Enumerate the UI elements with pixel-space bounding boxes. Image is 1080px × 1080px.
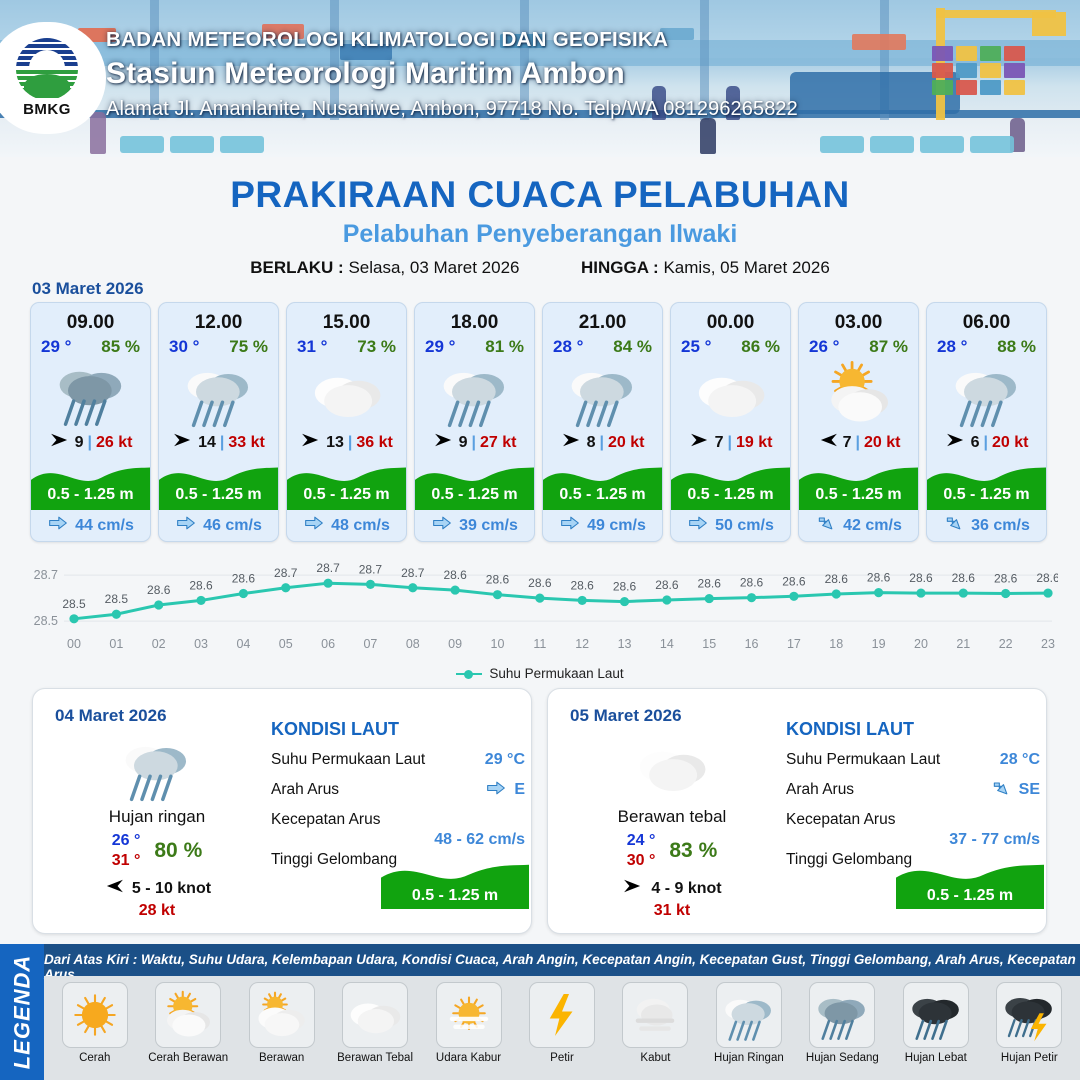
current-direction-arrow-icon xyxy=(559,513,581,538)
sea-conditions-heading: KONDISI LAUT xyxy=(786,719,1040,740)
card-wave-band: 0.5 - 1.25 m xyxy=(543,458,662,510)
hourly-forecast-card[interactable]: 09.00 29 ° 85 % 9 | 26 kt 0.5 - 1.25 m 4… xyxy=(30,302,151,542)
gust-speed: 27 kt xyxy=(480,434,516,452)
svg-text:00: 00 xyxy=(67,637,81,651)
card-temperature: 31 ° xyxy=(297,337,327,357)
wave-height: 0.5 - 1.25 m xyxy=(415,486,534,504)
current-speed-value-row: 37 - 77 cm/s xyxy=(786,831,1040,849)
page-title: PRAKIRAAN CUACA PELABUHAN xyxy=(0,174,1080,216)
card-current-row: 44 cm/s xyxy=(31,510,150,541)
card-temp-humidity: 30 ° 75 % xyxy=(159,334,278,357)
sst-row: Suhu Permukaan Laut 29 °C xyxy=(271,745,525,775)
svg-text:28.6: 28.6 xyxy=(994,572,1018,586)
wind-speed: 9 xyxy=(75,434,84,452)
wind-direction-arrow-icon xyxy=(689,432,711,453)
weather-berawan-tebal-icon xyxy=(287,357,406,429)
legend-item-label: Kabut xyxy=(640,1052,670,1064)
until-value: Kamis, 05 Maret 2026 xyxy=(663,258,829,277)
valid-value: Selasa, 03 Maret 2026 xyxy=(348,258,519,277)
current-direction-arrow-icon xyxy=(303,513,325,538)
svg-text:28.6: 28.6 xyxy=(443,568,467,582)
svg-text:04: 04 xyxy=(236,637,250,651)
wind-direction-arrow-icon xyxy=(817,432,839,453)
svg-text:28.6: 28.6 xyxy=(189,578,213,592)
agency-name: BADAN METEOROLOGI KLIMATOLOGI DAN GEOFIS… xyxy=(106,28,798,52)
panel-wind-row: 4 - 9 knot xyxy=(558,878,786,899)
current-direction-label: Arah Arus xyxy=(271,781,339,799)
separator: | xyxy=(599,434,603,452)
svg-text:28.6: 28.6 xyxy=(909,571,933,585)
svg-text:03: 03 xyxy=(194,637,208,651)
panel-temp-range: 24 ° 30 ° xyxy=(627,831,656,871)
ship-icon xyxy=(852,34,906,50)
card-wave-band: 0.5 - 1.25 m xyxy=(159,458,278,510)
person-figure xyxy=(90,112,106,154)
wind-direction-arrow-icon xyxy=(561,432,583,453)
weather-berawan-tebal-icon xyxy=(558,731,786,803)
wind-speed: 7 xyxy=(715,434,724,452)
sst-value: 28 °C xyxy=(1000,751,1040,769)
card-current-row: 48 cm/s xyxy=(287,510,406,541)
svg-text:14: 14 xyxy=(660,637,674,651)
current-direction-arrow-icon xyxy=(943,513,965,538)
svg-text:10: 10 xyxy=(491,637,505,651)
card-hour: 21.00 xyxy=(543,303,662,334)
panel-temp-max: 31 ° xyxy=(112,851,141,871)
svg-text:19: 19 xyxy=(872,637,886,651)
panel-sea-conditions: KONDISI LAUT Suhu Permukaan Laut 28 °C A… xyxy=(786,719,1040,911)
weather-berawan-tebal-icon xyxy=(342,982,408,1048)
chart-legend: Suhu Permukaan Laut xyxy=(22,666,1058,681)
svg-text:28.6: 28.6 xyxy=(613,580,637,594)
card-temp-humidity: 28 ° 88 % xyxy=(927,334,1046,357)
legend-item-label: Petir xyxy=(550,1052,574,1064)
current-speed: 36 cm/s xyxy=(971,517,1030,535)
legend-item: Berawan Tebal xyxy=(328,982,421,1064)
current-speed: 39 cm/s xyxy=(459,517,518,535)
container-icon xyxy=(956,63,977,78)
current-direction-arrow-icon xyxy=(990,778,1012,803)
weather-hujan-ringan-icon xyxy=(543,357,662,429)
card-temp-humidity: 25 ° 86 % xyxy=(671,334,790,357)
svg-text:28.6: 28.6 xyxy=(570,578,594,592)
wind-speed: 13 xyxy=(326,434,344,452)
station-address: Alamat Jl. Amanlanite, Nusaniwe, Ambon, … xyxy=(106,98,798,121)
bmkg-logo-mark xyxy=(16,38,78,100)
weather-cerah-berawan-icon xyxy=(155,982,221,1048)
legend-item-label: Cerah xyxy=(79,1052,110,1064)
hourly-forecast-card[interactable]: 00.00 25 ° 86 % 7 | 19 kt 0.5 - 1.25 m 5… xyxy=(670,302,791,542)
separator: | xyxy=(983,434,987,452)
svg-text:12: 12 xyxy=(575,637,589,651)
card-temperature: 28 ° xyxy=(553,337,583,357)
wind-direction-arrow-icon xyxy=(945,432,967,453)
crane-hoist-icon xyxy=(1032,12,1066,36)
wave-height: 0.5 - 1.25 m xyxy=(671,486,790,504)
svg-text:22: 22 xyxy=(999,637,1013,651)
weather-hujan-ringan-icon xyxy=(159,357,278,429)
wave-height: 0.5 - 1.25 m xyxy=(927,486,1046,504)
current-speed-label: Kecepatan Arus xyxy=(271,811,380,829)
current-speed: 44 cm/s xyxy=(75,517,134,535)
current-direction-label: Arah Arus xyxy=(786,781,854,799)
svg-text:28.6: 28.6 xyxy=(825,572,849,586)
card-temp-humidity: 31 ° 73 % xyxy=(287,334,406,357)
card-temp-humidity: 26 ° 87 % xyxy=(799,334,918,357)
container-icon xyxy=(980,63,1001,78)
card-humidity: 75 % xyxy=(229,337,268,357)
card-hour: 12.00 xyxy=(159,303,278,334)
seat-row xyxy=(920,136,964,153)
card-hour: 15.00 xyxy=(287,303,406,334)
legend-item-label: Hujan Petir xyxy=(1001,1052,1058,1064)
separator: | xyxy=(87,434,91,452)
container-icon xyxy=(932,63,953,78)
legend-side-label: LEGENDA xyxy=(9,955,35,1070)
wind-direction-arrow-icon xyxy=(433,432,455,453)
container-icon xyxy=(956,80,977,95)
sea-conditions-heading: KONDISI LAUT xyxy=(271,719,525,740)
svg-text:16: 16 xyxy=(745,637,759,651)
current-speed: 50 cm/s xyxy=(715,517,774,535)
legend-marker-icon xyxy=(456,669,482,679)
legend-item: Hujan Ringan xyxy=(702,982,795,1064)
card-humidity: 85 % xyxy=(101,337,140,357)
hourly-forecast-strip: 09.00 29 ° 85 % 9 | 26 kt 0.5 - 1.25 m 4… xyxy=(30,302,1050,542)
card-hour: 00.00 xyxy=(671,303,790,334)
current-direction-value: E xyxy=(485,778,525,803)
card-current-row: 50 cm/s xyxy=(671,510,790,541)
card-wind-row: 6 | 20 kt xyxy=(927,429,1046,456)
weather-hujan-lebat-icon xyxy=(903,982,969,1048)
weather-cerah-berawan-icon xyxy=(799,357,918,429)
panel-wind-row: 5 - 10 knot xyxy=(43,878,271,899)
gust-speed: 19 kt xyxy=(736,434,772,452)
until-label: HINGGA : xyxy=(581,258,659,277)
weather-hujan-ringan-icon xyxy=(415,357,534,429)
card-wind-row: 9 | 26 kt xyxy=(31,429,150,456)
card-temperature: 26 ° xyxy=(809,337,839,357)
current-speed-label: Kecepatan Arus xyxy=(786,811,895,829)
card-humidity: 81 % xyxy=(485,337,524,357)
panel-gust: 31 kt xyxy=(558,902,786,920)
wind-direction-arrow-icon xyxy=(622,878,644,899)
separator: | xyxy=(220,434,224,452)
legend-item-label: Hujan Sedang xyxy=(806,1052,879,1064)
daily-forecast-panel[interactable]: 05 Maret 2026 Berawan tebal 24 ° 30 ° 83… xyxy=(547,688,1047,934)
svg-text:28.7: 28.7 xyxy=(401,566,425,580)
wind-speed: 9 xyxy=(459,434,468,452)
current-speed: 42 cm/s xyxy=(843,517,902,535)
gust-speed: 33 kt xyxy=(228,434,264,452)
weather-berawan-tebal-icon xyxy=(671,357,790,429)
card-current-row: 39 cm/s xyxy=(415,510,534,541)
gust-speed: 20 kt xyxy=(864,434,900,452)
svg-text:17: 17 xyxy=(787,637,801,651)
page-banner: BMKG BADAN METEOROLOGI KLIMATOLOGI DAN G… xyxy=(0,0,1080,157)
panel-wind-speed: 4 - 9 knot xyxy=(651,880,721,898)
container-icon xyxy=(932,46,953,61)
container-icon xyxy=(956,46,977,61)
sst-value: 29 °C xyxy=(485,751,525,769)
card-humidity: 73 % xyxy=(357,337,396,357)
panel-temp-range: 26 ° 31 ° xyxy=(112,831,141,871)
legend-side-bar: LEGENDA xyxy=(0,944,44,1080)
wave-height: 0.5 - 1.25 m xyxy=(287,486,406,504)
panel-condition: Hujan ringan xyxy=(43,807,271,827)
svg-text:09: 09 xyxy=(448,637,462,651)
container-icon xyxy=(1004,63,1025,78)
current-direction-row: Arah Arus SE xyxy=(786,775,1040,805)
weather-hujan-sedang-icon xyxy=(31,357,150,429)
weather-petir-icon xyxy=(529,982,595,1048)
station-name: Stasiun Meteorologi Maritim Ambon xyxy=(106,57,798,91)
svg-text:11: 11 xyxy=(533,637,546,651)
container-icon xyxy=(980,80,1001,95)
card-wind-row: 7 | 20 kt xyxy=(799,429,918,456)
hourly-forecast-card[interactable]: 03.00 26 ° 87 % 7 | 20 kt 0.5 - 1.25 m 4… xyxy=(798,302,919,542)
legend-item-label: Hujan Lebat xyxy=(905,1052,967,1064)
legend-series-label: Suhu Permukaan Laut xyxy=(489,666,623,681)
current-speed-value-row: 48 - 62 cm/s xyxy=(271,831,525,849)
panel-temp-min: 26 ° xyxy=(112,831,141,851)
daily-forecast-panels: 04 Maret 2026 Hujan ringan 26 ° 31 ° 80 … xyxy=(32,688,1048,934)
panel-humidity: 80 % xyxy=(154,839,202,863)
weather-hujan-petir-icon xyxy=(996,982,1062,1048)
panel-weather-summary: Berawan tebal 24 ° 30 ° 83 % 4 - 9 knot … xyxy=(558,731,786,920)
legend-item: Hujan Sedang xyxy=(796,982,889,1064)
card-temp-humidity: 28 ° 84 % xyxy=(543,334,662,357)
card-current-row: 46 cm/s xyxy=(159,510,278,541)
svg-text:07: 07 xyxy=(363,637,377,651)
hourly-forecast-card[interactable]: 06.00 28 ° 88 % 6 | 20 kt 0.5 - 1.25 m 3… xyxy=(926,302,1047,542)
separator: | xyxy=(855,434,859,452)
sst-label: Suhu Permukaan Laut xyxy=(786,751,940,769)
svg-text:28.6: 28.6 xyxy=(1036,571,1058,585)
separator: | xyxy=(471,434,475,452)
card-hour: 18.00 xyxy=(415,303,534,334)
card-wave-band: 0.5 - 1.25 m xyxy=(671,458,790,510)
svg-text:06: 06 xyxy=(321,637,335,651)
svg-text:20: 20 xyxy=(914,637,928,651)
weather-berawan-icon xyxy=(249,982,315,1048)
separator: | xyxy=(348,434,352,452)
card-humidity: 87 % xyxy=(869,337,908,357)
current-direction-arrow-icon xyxy=(47,513,69,538)
legend-section: LEGENDA Dari Atas Kiri : Waktu, Suhu Uda… xyxy=(0,944,1080,1080)
wave-label: Tinggi Gelombang xyxy=(786,851,912,869)
svg-text:28.6: 28.6 xyxy=(867,571,891,585)
current-speed-value: 37 - 77 cm/s xyxy=(949,831,1040,849)
svg-text:28.6: 28.6 xyxy=(528,576,552,590)
weather-hujan-sedang-icon xyxy=(809,982,875,1048)
svg-text:28.6: 28.6 xyxy=(782,574,806,588)
hourly-forecast-card[interactable]: 12.00 30 ° 75 % 14 | 33 kt 0.5 - 1.25 m … xyxy=(158,302,279,542)
wave-height: 0.5 - 1.25 m xyxy=(543,486,662,504)
sst-row: Suhu Permukaan Laut 28 °C xyxy=(786,745,1040,775)
card-wind-row: 14 | 33 kt xyxy=(159,429,278,456)
panel-condition: Berawan tebal xyxy=(558,807,786,827)
current-direction-row: Arah Arus E xyxy=(271,775,525,805)
svg-text:28.5: 28.5 xyxy=(62,597,86,611)
wave-row: Tinggi Gelombang 0.5 - 1.25 m xyxy=(271,849,525,911)
weather-udara-kabur-icon xyxy=(436,982,502,1048)
weather-hujan-ringan-icon xyxy=(716,982,782,1048)
seat-row xyxy=(970,136,1014,153)
panel-date: 04 Maret 2026 xyxy=(55,706,167,726)
svg-text:01: 01 xyxy=(109,637,123,651)
current-direction-value: SE xyxy=(990,778,1040,803)
legend-item: Petir xyxy=(515,982,608,1064)
legend-item-label: Berawan Tebal xyxy=(337,1052,413,1064)
svg-text:28.7: 28.7 xyxy=(359,562,383,576)
hourly-forecast-card[interactable]: 15.00 31 ° 73 % 13 | 36 kt 0.5 - 1.25 m … xyxy=(286,302,407,542)
card-hour: 09.00 xyxy=(31,303,150,334)
daily-forecast-panel[interactable]: 04 Maret 2026 Hujan ringan 26 ° 31 ° 80 … xyxy=(32,688,532,934)
weather-hujan-ringan-icon xyxy=(43,731,271,803)
svg-text:28.7: 28.7 xyxy=(274,566,298,580)
svg-text:02: 02 xyxy=(152,637,166,651)
wind-speed: 8 xyxy=(587,434,596,452)
valid-label: BERLAKU : xyxy=(250,258,344,277)
legend-item: Berawan xyxy=(235,982,328,1064)
panel-sea-conditions: KONDISI LAUT Suhu Permukaan Laut 29 °C A… xyxy=(271,719,525,911)
card-temperature: 25 ° xyxy=(681,337,711,357)
legend-item: Cerah Berawan xyxy=(141,982,234,1064)
panel-wind-speed: 5 - 10 knot xyxy=(132,880,211,898)
current-direction-arrow-icon xyxy=(815,513,837,538)
wind-direction-arrow-icon xyxy=(300,432,322,453)
svg-text:28.6: 28.6 xyxy=(147,583,171,597)
legend-item-label: Cerah Berawan xyxy=(148,1052,228,1064)
container-icon xyxy=(1004,80,1025,95)
svg-text:28.6: 28.6 xyxy=(952,571,976,585)
svg-text:21: 21 xyxy=(956,637,970,651)
card-wave-band: 0.5 - 1.25 m xyxy=(799,458,918,510)
current-direction-arrow-icon xyxy=(687,513,709,538)
card-current-row: 49 cm/s xyxy=(543,510,662,541)
wave-value: 0.5 - 1.25 m xyxy=(896,887,1044,905)
card-humidity: 88 % xyxy=(997,337,1036,357)
panel-weather-summary: Hujan ringan 26 ° 31 ° 80 % 5 - 10 knot … xyxy=(43,731,271,920)
svg-text:28.6: 28.6 xyxy=(740,576,764,590)
svg-text:08: 08 xyxy=(406,637,420,651)
panel-temp-min: 24 ° xyxy=(627,831,656,851)
current-direction-arrow-icon xyxy=(431,513,453,538)
wave-height: 0.5 - 1.25 m xyxy=(31,486,150,504)
banner-text-block: BADAN METEOROLOGI KLIMATOLOGI DAN GEOFIS… xyxy=(106,28,798,121)
wave-row: Tinggi Gelombang 0.5 - 1.25 m xyxy=(786,849,1040,911)
panel-temp-max: 30 ° xyxy=(627,851,656,871)
wave-height: 0.5 - 1.25 m xyxy=(159,486,278,504)
card-humidity: 84 % xyxy=(613,337,652,357)
seat-row xyxy=(120,136,164,153)
panel-gust: 28 kt xyxy=(43,902,271,920)
current-direction-arrow-icon xyxy=(175,513,197,538)
card-current-row: 36 cm/s xyxy=(927,510,1046,541)
current-direction-arrow-icon xyxy=(485,778,507,803)
legend-item: Cerah xyxy=(48,982,141,1064)
validity-line: BERLAKU : Selasa, 03 Maret 2026 HINGGA :… xyxy=(0,258,1080,278)
card-temperature: 29 ° xyxy=(41,337,71,357)
legend-item-label: Hujan Ringan xyxy=(714,1052,784,1064)
wind-direction-arrow-icon xyxy=(172,432,194,453)
wind-speed: 14 xyxy=(198,434,216,452)
seat-row xyxy=(870,136,914,153)
legend-item-label: Udara Kabur xyxy=(436,1052,501,1064)
card-current-row: 42 cm/s xyxy=(799,510,918,541)
svg-text:28.6: 28.6 xyxy=(698,577,722,591)
separator: | xyxy=(727,434,731,452)
legend-item-label: Berawan xyxy=(259,1052,304,1064)
gust-speed: 20 kt xyxy=(608,434,644,452)
card-hour: 03.00 xyxy=(799,303,918,334)
wave-value: 0.5 - 1.25 m xyxy=(381,887,529,905)
legend-item: Udara Kabur xyxy=(422,982,515,1064)
hourly-forecast-card[interactable]: 21.00 28 ° 84 % 8 | 20 kt 0.5 - 1.25 m 4… xyxy=(542,302,663,542)
legend-item: Kabut xyxy=(609,982,702,1064)
panel-temp-humidity: 26 ° 31 ° 80 % xyxy=(43,831,271,871)
sst-chart: 28.728.528.50028.50128.60228.60328.60428… xyxy=(22,556,1058,684)
weather-kabut-icon xyxy=(622,982,688,1048)
wind-direction-arrow-icon xyxy=(103,878,125,899)
card-humidity: 86 % xyxy=(741,337,780,357)
hourly-forecast-card[interactable]: 18.00 29 ° 81 % 9 | 27 kt 0.5 - 1.25 m 3… xyxy=(414,302,535,542)
card-wave-band: 0.5 - 1.25 m xyxy=(287,458,406,510)
legend-items: Cerah Cerah Berawan Berawan Berawan Teba… xyxy=(44,976,1080,1080)
svg-text:28.5: 28.5 xyxy=(34,614,58,628)
person-figure xyxy=(700,118,716,154)
card-wind-row: 9 | 27 kt xyxy=(415,429,534,456)
card-temp-humidity: 29 ° 81 % xyxy=(415,334,534,357)
hourly-date-label: 03 Maret 2026 xyxy=(32,279,144,299)
current-speed: 46 cm/s xyxy=(203,517,262,535)
current-speed: 49 cm/s xyxy=(587,517,646,535)
seat-row xyxy=(170,136,214,153)
svg-text:18: 18 xyxy=(829,637,843,651)
card-wind-row: 8 | 20 kt xyxy=(543,429,662,456)
seat-row xyxy=(820,136,864,153)
panel-date: 05 Maret 2026 xyxy=(570,706,682,726)
wind-speed: 7 xyxy=(843,434,852,452)
gust-speed: 36 kt xyxy=(356,434,392,452)
wind-direction-arrow-icon xyxy=(49,432,71,453)
gust-speed: 20 kt xyxy=(992,434,1028,452)
card-wave-band: 0.5 - 1.25 m xyxy=(415,458,534,510)
container-icon xyxy=(980,46,1001,61)
card-wave-band: 0.5 - 1.25 m xyxy=(927,458,1046,510)
wind-speed: 6 xyxy=(971,434,980,452)
current-speed-value: 48 - 62 cm/s xyxy=(434,831,525,849)
card-temp-humidity: 29 ° 85 % xyxy=(31,334,150,357)
seat-row xyxy=(220,136,264,153)
gust-speed: 26 kt xyxy=(96,434,132,452)
legend-item: Hujan Lebat xyxy=(889,982,982,1064)
panel-temp-humidity: 24 ° 30 ° 83 % xyxy=(558,831,786,871)
container-icon xyxy=(1004,46,1025,61)
svg-text:13: 13 xyxy=(618,637,632,651)
card-wind-row: 13 | 36 kt xyxy=(287,429,406,456)
container-icon xyxy=(932,80,953,95)
svg-text:28.7: 28.7 xyxy=(34,568,58,582)
panel-humidity: 83 % xyxy=(669,839,717,863)
weather-cerah-icon xyxy=(62,982,128,1048)
svg-text:28.6: 28.6 xyxy=(232,572,256,586)
current-speed: 48 cm/s xyxy=(331,517,390,535)
svg-text:28.6: 28.6 xyxy=(486,573,510,587)
svg-text:23: 23 xyxy=(1041,637,1055,651)
svg-text:05: 05 xyxy=(279,637,293,651)
